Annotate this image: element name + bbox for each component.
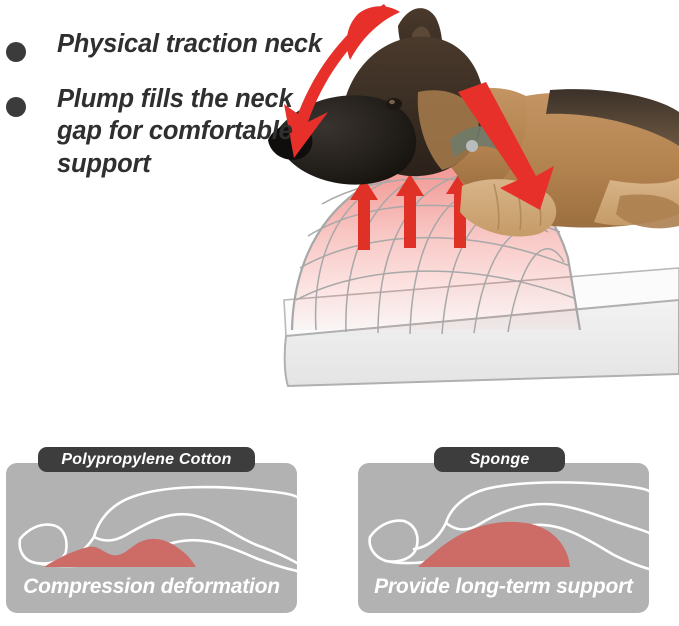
- card-caption-provide-long-term-support: Provide long-term support: [358, 575, 649, 599]
- arrow-straight-to-body: [458, 82, 554, 210]
- dog-head-outline: [20, 525, 67, 564]
- bullet-dot-icon: [6, 97, 26, 117]
- badge-polypropylene-cotton: Polypropylene Cotton: [38, 447, 255, 472]
- bullet-text-plump-fills-neck-gap: Plump fills the neck gap for comfortable…: [57, 83, 330, 181]
- hero-section: Physical traction neck Plump fills the n…: [0, 0, 679, 410]
- list-item: Plump fills the neck gap for comfortable…: [0, 83, 330, 181]
- feature-bullet-list: Physical traction neck Plump fills the n…: [0, 28, 330, 203]
- list-item: Physical traction neck: [0, 28, 330, 61]
- comparison-card-polypropylene-cotton: Compression deformation: [6, 463, 297, 613]
- bullet-text-physical-traction-neck: Physical traction neck: [57, 28, 330, 61]
- card-caption-compression-deformation: Compression deformation: [6, 575, 297, 599]
- dog-outline-back: [94, 487, 297, 537]
- bullet-dot-icon: [6, 42, 26, 62]
- comparison-card-sponge: Provide long-term support: [358, 463, 649, 613]
- badge-sponge: Sponge: [434, 447, 565, 472]
- filler-profile-supported: [418, 522, 570, 567]
- dog-head-outline: [370, 521, 418, 562]
- dog-outline-back: [446, 482, 649, 523]
